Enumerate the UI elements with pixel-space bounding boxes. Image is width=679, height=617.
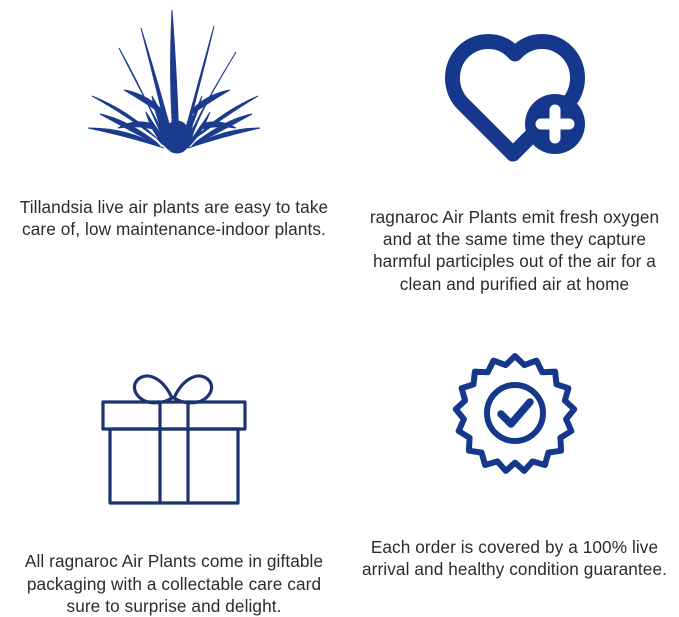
feature-text-easy-care: Tillandsia live air plants are easy to t… [20,196,328,240]
feature-card-live-arrival-guarantee: Each order is covered by a 100% live arr… [348,308,679,617]
air-plant-icon [86,4,262,154]
feature-card-easy-care: Tillandsia live air plants are easy to t… [0,0,348,308]
guarantee-seal-icon [451,330,579,480]
feature-text-live-arrival-guarantee: Each order is covered by a 100% live arr… [362,536,667,580]
feature-card-fresh-oxygen: ragnaroc Air Plants emit fresh oxygen an… [348,0,679,308]
feature-text-giftable-packaging: All ragnaroc Air Plants come in giftable… [25,550,323,617]
gift-box-icon [96,348,252,506]
heart-plus-icon [443,14,587,164]
feature-card-giftable-packaging: All ragnaroc Air Plants come in giftable… [0,308,348,617]
feature-grid: Tillandsia live air plants are easy to t… [0,0,679,617]
feature-text-fresh-oxygen: ragnaroc Air Plants emit fresh oxygen an… [370,206,659,295]
